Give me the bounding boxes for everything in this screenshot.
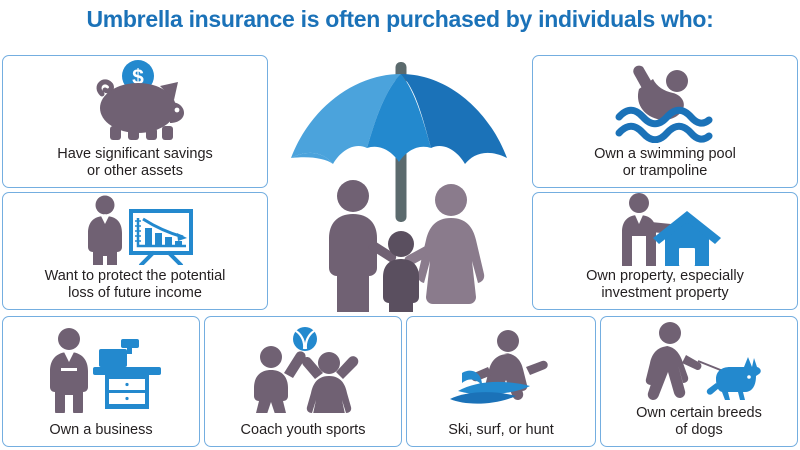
card-ski[interactable]: Ski, surf, or hunt <box>406 316 596 447</box>
card-property[interactable]: Own property, especially investment prop… <box>532 192 798 310</box>
card-dogs-line1: Own certain breeds <box>607 405 791 423</box>
card-savings[interactable]: $ Have significant savings or other asse… <box>2 55 268 188</box>
children-playing-ball-icon <box>241 327 365 413</box>
card-pool-caption: Own a swimming pool or trampoline <box>533 146 797 181</box>
card-coach[interactable]: Coach youth sports <box>204 316 402 447</box>
infographic-page: Umbrella insurance is often purchased by… <box>0 0 800 450</box>
card-property-art <box>533 193 797 268</box>
swimmer-icon <box>605 59 725 143</box>
card-ski-art <box>407 317 595 422</box>
card-property-caption: Own property, especially investment prop… <box>533 268 797 303</box>
card-income-caption: Want to protect the potential loss of fu… <box>3 268 267 303</box>
card-business-caption: Own a business <box>3 422 199 440</box>
card-income-line1: Want to protect the potential <box>9 268 261 286</box>
card-dogs[interactable]: Own certain breeds of dogs <box>600 316 798 447</box>
person-walking-dog-icon <box>634 321 764 401</box>
card-dogs-line2: of dogs <box>607 422 791 440</box>
card-property-line1: Own property, especially <box>539 268 791 286</box>
page-title: Umbrella insurance is often purchased by… <box>0 6 800 33</box>
card-property-line2: investment property <box>539 285 791 303</box>
card-ski-caption: Ski, surf, or hunt <box>407 422 595 440</box>
piggy-bank-icon: $ <box>76 60 194 142</box>
card-pool-art <box>533 56 797 146</box>
card-dogs-caption: Own certain breeds of dogs <box>601 405 797 440</box>
card-dogs-art <box>601 317 797 405</box>
card-business[interactable]: Own a business <box>2 316 200 447</box>
card-pool-line1: Own a swimming pool <box>539 146 791 164</box>
card-income-art <box>3 193 267 268</box>
card-coach-caption: Coach youth sports <box>205 422 401 440</box>
card-income[interactable]: Want to protect the potential loss of fu… <box>2 192 268 310</box>
person-with-house-icon <box>605 192 725 268</box>
card-ski-line1: Ski, surf, or hunt <box>413 422 589 440</box>
umbrella-family-icon <box>281 54 521 312</box>
businessman-declining-chart-icon <box>71 195 199 265</box>
card-business-art <box>3 317 199 422</box>
card-income-line2: loss of future income <box>9 285 261 303</box>
business-owner-counter-icon <box>37 327 165 413</box>
card-savings-line2: or other assets <box>9 163 261 181</box>
card-business-line1: Own a business <box>9 422 193 440</box>
card-savings-art: $ <box>3 56 267 146</box>
card-coach-art <box>205 317 401 422</box>
card-savings-caption: Have significant savings or other assets <box>3 146 267 181</box>
card-coach-line1: Coach youth sports <box>211 422 395 440</box>
card-pool-line2: or trampoline <box>539 163 791 181</box>
surfer-icon <box>438 329 564 411</box>
umbrella-over-family-graphic <box>272 50 530 315</box>
card-savings-line1: Have significant savings <box>9 146 261 164</box>
card-pool[interactable]: Own a swimming pool or trampoline <box>532 55 798 188</box>
